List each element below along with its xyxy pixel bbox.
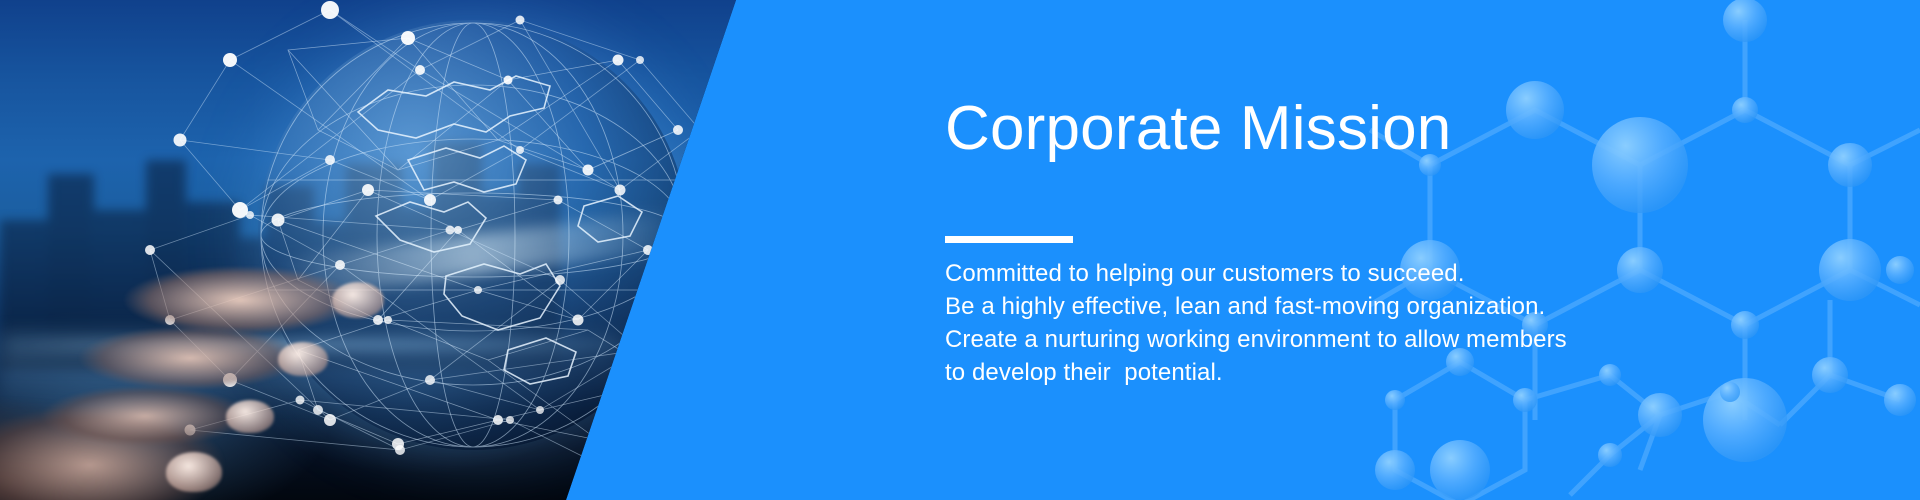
corporate-mission-banner: Corporate Mission Committed to helping o…: [0, 0, 1920, 500]
mission-line: Create a nurturing working environment t…: [945, 323, 1585, 356]
mission-line: Be a highly effective, lean and fast-mov…: [945, 290, 1585, 323]
mission-line: to develop their potential.: [945, 356, 1585, 389]
title-divider: [945, 236, 1073, 243]
hand-illustration: [0, 230, 460, 500]
banner-hero-image: [0, 0, 760, 500]
page-title: Corporate Mission: [945, 96, 1451, 162]
mission-statement: Committed to helping our customers to su…: [945, 257, 1585, 389]
banner-content: Corporate Mission Committed to helping o…: [937, 0, 1697, 500]
mission-line: Committed to helping our customers to su…: [945, 257, 1585, 290]
